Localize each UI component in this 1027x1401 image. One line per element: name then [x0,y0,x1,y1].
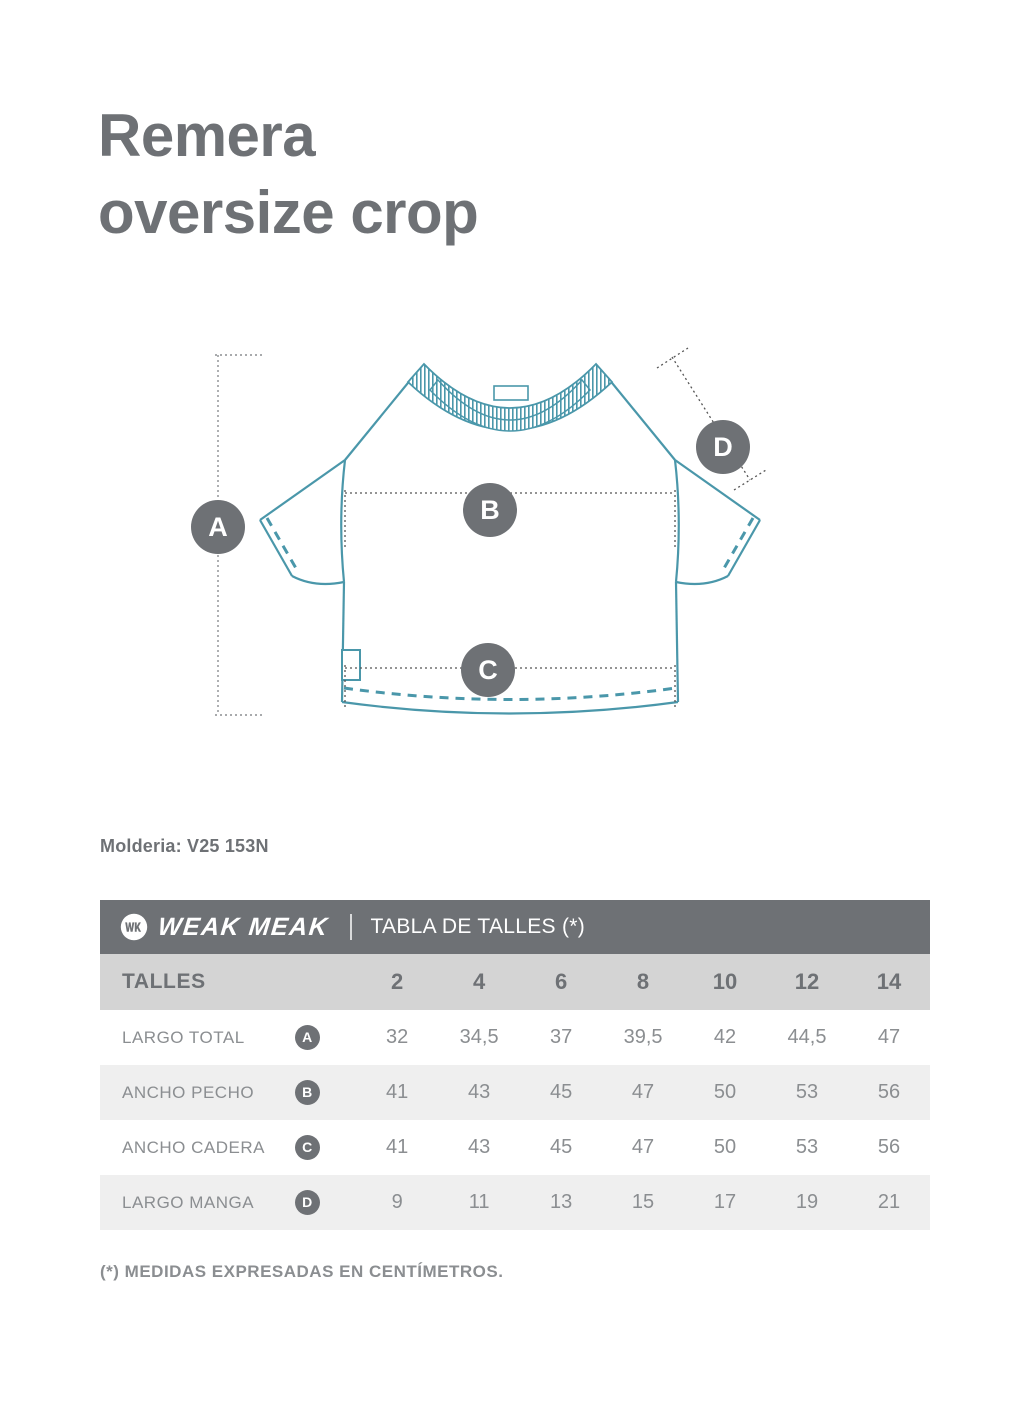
marker-c-label: C [478,655,498,685]
brand-name: WEAK MEAK [156,913,329,942]
size-table-grid: TALLES 2 4 6 8 10 12 14 LARGO TOTAL A 32… [100,954,930,1230]
sizes-header-badge-cell [295,954,356,1010]
cell-a-14: 47 [848,1010,930,1065]
cell-b-6: 45 [520,1065,602,1120]
cell-d-4: 11 [438,1175,520,1230]
marker-d-label: D [713,432,733,462]
garment-diagram: A B C D [160,320,860,770]
row-label-largo-total: LARGO TOTAL [100,1010,295,1065]
row-badge-cell-a: A [295,1010,356,1065]
size-header-2: 2 [356,954,438,1010]
cell-d-10: 17 [684,1175,766,1230]
row-badge-a: A [295,1025,320,1050]
size-header-4: 4 [438,954,520,1010]
cell-d-8: 15 [602,1175,684,1230]
page-title: Remera oversize crop [98,98,798,252]
table-row: LARGO TOTAL A 32 34,5 37 39,5 42 44,5 47 [100,1010,930,1065]
row-badge-d: D [295,1190,320,1215]
cell-c-12: 53 [766,1120,848,1175]
size-header-8: 8 [602,954,684,1010]
sizes-header-label: TALLES [100,954,295,1010]
row-label-ancho-pecho: ANCHO PECHO [100,1065,295,1120]
weak-meak-logo-icon [120,913,148,941]
cell-c-10: 50 [684,1120,766,1175]
cell-b-4: 43 [438,1065,520,1120]
molderia-label: Molderia: V25 153N [100,836,269,857]
size-header-14: 14 [848,954,930,1010]
cell-d-2: 9 [356,1175,438,1230]
cell-a-4: 34,5 [438,1010,520,1065]
marker-badge-a: A [191,500,245,554]
cell-c-8: 47 [602,1120,684,1175]
size-header-10: 10 [684,954,766,1010]
cell-b-10: 50 [684,1065,766,1120]
cell-a-6: 37 [520,1010,602,1065]
marker-badge-d: D [696,420,750,474]
cell-a-2: 32 [356,1010,438,1065]
cell-d-12: 19 [766,1175,848,1230]
cell-c-2: 41 [356,1120,438,1175]
cell-c-4: 43 [438,1120,520,1175]
row-badge-c: C [295,1135,320,1160]
row-badge-cell-b: B [295,1065,356,1120]
row-badge-b: B [295,1080,320,1105]
collar-ribbing [408,364,612,431]
size-table-title: TABLA DE TALLES (*) [370,915,585,939]
cell-b-2: 41 [356,1065,438,1120]
cell-b-12: 53 [766,1065,848,1120]
size-header-12: 12 [766,954,848,1010]
sizes-header-row: TALLES 2 4 6 8 10 12 14 [100,954,930,1010]
size-header-6: 6 [520,954,602,1010]
cell-b-8: 47 [602,1065,684,1120]
row-label-ancho-cadera: ANCHO CADERA [100,1120,295,1175]
table-row: ANCHO PECHO B 41 43 45 47 50 53 56 [100,1065,930,1120]
cell-b-14: 56 [848,1065,930,1120]
cell-c-14: 56 [848,1120,930,1175]
marker-b-label: B [480,495,500,525]
table-row: ANCHO CADERA C 41 43 45 47 50 53 56 [100,1120,930,1175]
row-label-largo-manga: LARGO MANGA [100,1175,295,1230]
cell-a-12: 44,5 [766,1010,848,1065]
table-row: LARGO MANGA D 9 11 13 15 17 19 21 [100,1175,930,1230]
cell-a-8: 39,5 [602,1010,684,1065]
size-table-header: WEAK MEAK TABLA DE TALLES (*) [100,900,930,954]
marker-badge-c: C [461,643,515,697]
measurement-units-footnote: (*) MEDIDAS EXPRESADAS EN CENTÍMETROS. [100,1262,503,1282]
marker-a-label: A [208,512,228,542]
header-divider [350,914,352,940]
row-badge-cell-d: D [295,1175,356,1230]
cell-c-6: 45 [520,1120,602,1175]
row-badge-cell-c: C [295,1120,356,1175]
cell-d-6: 13 [520,1175,602,1230]
page-title-line-2: oversize crop [98,175,798,252]
marker-badge-b: B [463,483,517,537]
cell-d-14: 21 [848,1175,930,1230]
cell-a-10: 42 [684,1010,766,1065]
size-table: WEAK MEAK TABLA DE TALLES (*) TALLES 2 4… [100,900,930,1230]
page-title-line-1: Remera [98,98,798,175]
